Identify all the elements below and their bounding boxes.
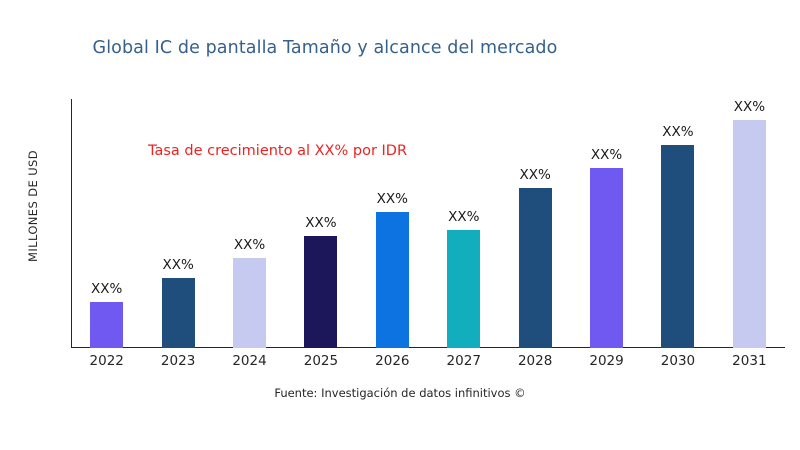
bar[interactable]: XX% [304, 236, 337, 348]
bar[interactable]: XX% [733, 120, 766, 348]
y-axis-label-container: MILLONES DE USD [22, 86, 44, 326]
bar-slot: XX% [499, 99, 570, 348]
plot-area: XX%XX%XX%XX%XX%XX%XX%XX%XX%XX% [71, 99, 785, 348]
bar-value-label: XX% [448, 209, 479, 225]
source-note: Fuente: Investigación de datos infinitiv… [0, 386, 800, 400]
bar[interactable]: XX% [162, 278, 195, 348]
x-axis-tick-label: 2027 [428, 353, 499, 369]
bar-slot: XX% [142, 99, 213, 348]
bar[interactable]: XX% [233, 258, 266, 348]
bar-slot: XX% [214, 99, 285, 348]
bar[interactable]: XX% [90, 302, 123, 348]
bar-slot: XX% [428, 99, 499, 348]
bar-value-label: XX% [377, 191, 408, 207]
bar[interactable]: XX% [519, 188, 552, 348]
bar-value-label: XX% [305, 215, 336, 231]
bar-value-label: XX% [91, 281, 122, 297]
x-axis-tick-label: 2029 [571, 353, 642, 369]
bar-value-label: XX% [519, 167, 550, 183]
x-axis-tick-label: 2022 [71, 353, 142, 369]
chart-title: Global IC de pantalla Tamaño y alcance d… [0, 38, 650, 58]
x-axis-tick-labels: 2022202320242025202620272028202920302031 [71, 353, 785, 369]
bar[interactable]: XX% [376, 212, 409, 348]
bar[interactable]: XX% [590, 168, 623, 348]
bar-series: XX%XX%XX%XX%XX%XX%XX%XX%XX%XX% [71, 99, 785, 348]
x-axis-tick-label: 2030 [642, 353, 713, 369]
growth-rate-annotation: Tasa de crecimiento al XX% por IDR [148, 143, 407, 159]
bar-slot: XX% [714, 99, 785, 348]
y-axis-label: MILLONES DE USD [26, 150, 40, 262]
bar[interactable]: XX% [447, 230, 480, 348]
bar-slot: XX% [357, 99, 428, 348]
bar-slot: XX% [571, 99, 642, 348]
x-axis-tick-label: 2024 [214, 353, 285, 369]
bar-value-label: XX% [162, 257, 193, 273]
bar-slot: XX% [285, 99, 356, 348]
bar-slot: XX% [71, 99, 142, 348]
bar-value-label: XX% [734, 99, 765, 115]
x-axis-tick-label: 2026 [357, 353, 428, 369]
chart-canvas: Global IC de pantalla Tamaño y alcance d… [0, 0, 800, 450]
x-axis-tick-label: 2031 [714, 353, 785, 369]
x-axis-tick-label: 2028 [499, 353, 570, 369]
x-axis-tick-label: 2025 [285, 353, 356, 369]
x-axis-tick-label: 2023 [142, 353, 213, 369]
bar-value-label: XX% [234, 237, 265, 253]
bar[interactable]: XX% [661, 145, 694, 348]
bar-slot: XX% [642, 99, 713, 348]
bar-value-label: XX% [662, 124, 693, 140]
bar-value-label: XX% [591, 147, 622, 163]
